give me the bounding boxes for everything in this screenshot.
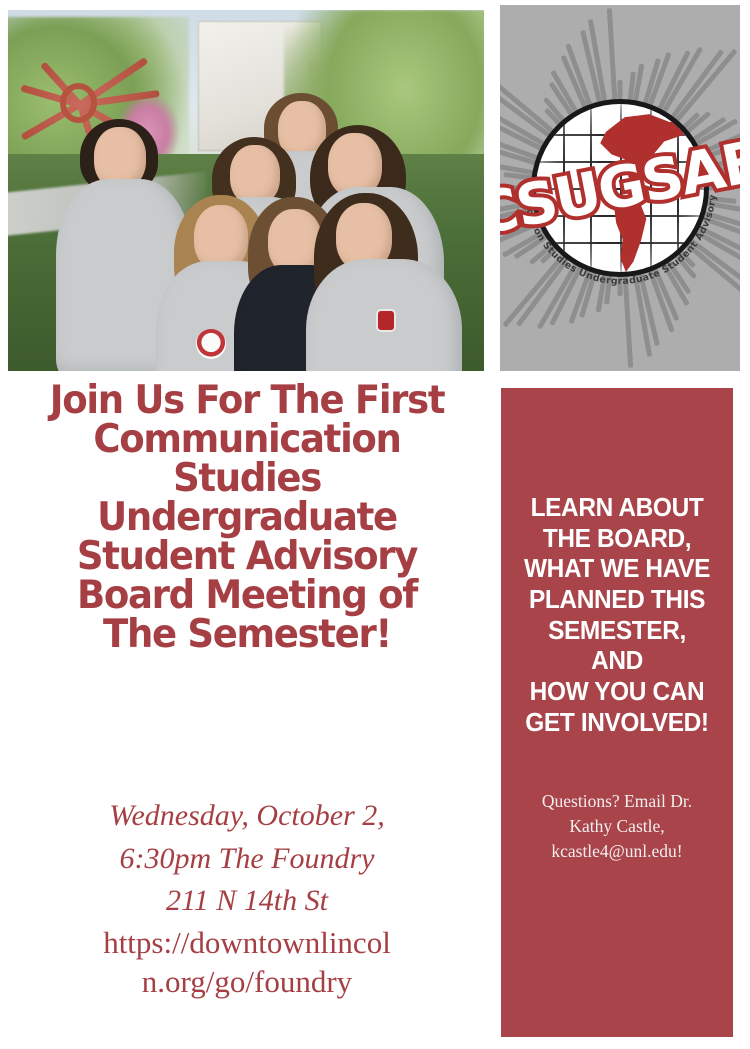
contact-line: Kathy Castle,	[542, 814, 692, 839]
sidebar-headline-line: WHAT WE HAVE	[521, 553, 713, 584]
sidebar-headline-line: SEMESTER, AND	[521, 615, 713, 676]
event-url-line-1[interactable]: https://downtownlincol	[8, 923, 486, 963]
sidebar-headline-line: LEARN ABOUT	[521, 492, 713, 523]
headline-line: Studies	[20, 459, 474, 498]
photo-people-group	[8, 75, 484, 371]
poster-root: Communication Studies Undergraduate Stud…	[0, 0, 750, 1049]
event-time-venue: 6:30pm The Foundry	[8, 838, 486, 881]
sidebar-contact-block: Questions? Email Dr. Kathy Castle, kcast…	[542, 789, 692, 864]
sidebar-headline-line: THE BOARD,	[521, 523, 713, 554]
poster-headline: Join Us For The First Communication Stud…	[20, 381, 474, 654]
sidebar-headline: LEARN ABOUT THE BOARD, WHAT WE HAVE PLAN…	[521, 492, 713, 737]
event-details: Wednesday, October 2, 6:30pm The Foundry…	[8, 795, 486, 1002]
event-url-line-2[interactable]: n.org/go/foundry	[8, 962, 486, 1002]
group-photo	[8, 10, 484, 371]
headline-line: Board Meeting of	[20, 576, 474, 615]
csugsab-logo-panel: Communication Studies Undergraduate Stud…	[500, 5, 740, 371]
event-address: 211 N 14th St	[8, 880, 486, 923]
red-info-panel: LEARN ABOUT THE BOARD, WHAT WE HAVE PLAN…	[501, 388, 733, 1037]
headline-line: The Semester!	[20, 615, 474, 654]
sidebar-headline-line: PLANNED THIS	[521, 584, 713, 615]
headline-line: Student Advisory	[20, 537, 474, 576]
headline-line: Undergraduate	[20, 498, 474, 537]
sidebar-headline-line: GET INVOLVED!	[521, 707, 713, 738]
headline-line: Join Us For The First	[20, 381, 474, 420]
event-date: Wednesday, October 2,	[8, 795, 486, 838]
headline-line: Communication	[20, 420, 474, 459]
sidebar-headline-line: HOW YOU CAN	[521, 676, 713, 707]
contact-line: Questions? Email Dr.	[542, 789, 692, 814]
contact-email-link[interactable]: kcastle4@unl.edu!	[542, 839, 692, 864]
